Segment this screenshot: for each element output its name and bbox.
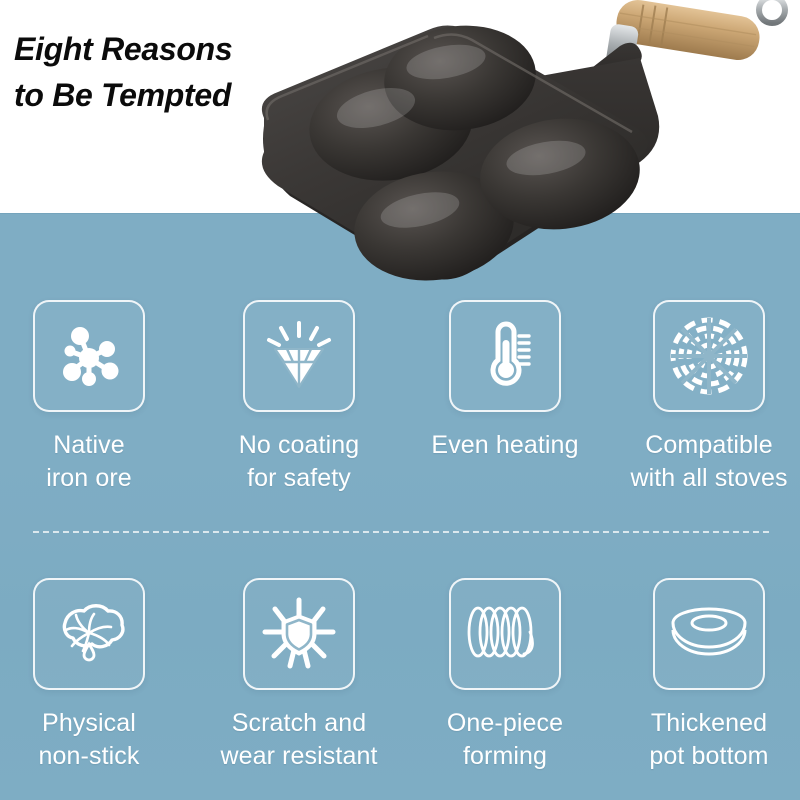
page-title: Eight Reasons to Be Tempted (14, 26, 344, 118)
thick-base-icon (667, 603, 751, 665)
diamond-icon (262, 319, 336, 393)
oil-droplet-icon (49, 597, 129, 671)
coil-spring-icon (464, 604, 546, 664)
feature-item-one-piece-forming: One-piece forming (405, 578, 605, 773)
feature-label: Native iron ore (0, 429, 189, 495)
feature-icon-box (449, 578, 561, 690)
page-title-line-1: Eight Reasons (14, 26, 344, 72)
burner-rings-icon (669, 316, 749, 396)
feature-item-all-stoves: Compatible with all stoves (609, 300, 800, 495)
infographic-page: Native iron ore (0, 0, 800, 800)
feature-icon-box (653, 300, 765, 412)
feature-icon-box (33, 300, 145, 412)
feature-label: Thickened pot bottom (609, 707, 800, 773)
shield-rays-icon (261, 596, 337, 672)
feature-label: One-piece forming (405, 707, 605, 773)
feature-label: Scratch and wear resistant (199, 707, 399, 773)
feature-item-even-heating: Even heating (405, 300, 605, 462)
feature-item-scratch-resistant: Scratch and wear resistant (199, 578, 399, 773)
row-divider (33, 531, 769, 533)
thermometer-icon (469, 320, 541, 392)
feature-item-thickened-bottom: Thickened pot bottom (609, 578, 800, 773)
feature-label: Physical non-stick (0, 707, 189, 773)
features-panel: Native iron ore (0, 211, 800, 800)
feature-label: No coating for safety (199, 429, 399, 495)
molecule-icon (53, 320, 125, 392)
feature-item-no-coating: No coating for safety (199, 300, 399, 495)
feature-item-physical-non-stick: Physical non-stick (0, 578, 189, 773)
feature-icon-box (653, 578, 765, 690)
feature-label: Even heating (405, 429, 605, 462)
feature-label: Compatible with all stoves (609, 429, 800, 495)
feature-icon-box (243, 300, 355, 412)
feature-icon-box (243, 578, 355, 690)
page-title-line-2: to Be Tempted (14, 72, 344, 118)
hero-band: Eight Reasons to Be Tempted (0, 0, 800, 213)
feature-icon-box (33, 578, 145, 690)
feature-item-native-iron-ore: Native iron ore (0, 300, 189, 495)
feature-icon-box (449, 300, 561, 412)
